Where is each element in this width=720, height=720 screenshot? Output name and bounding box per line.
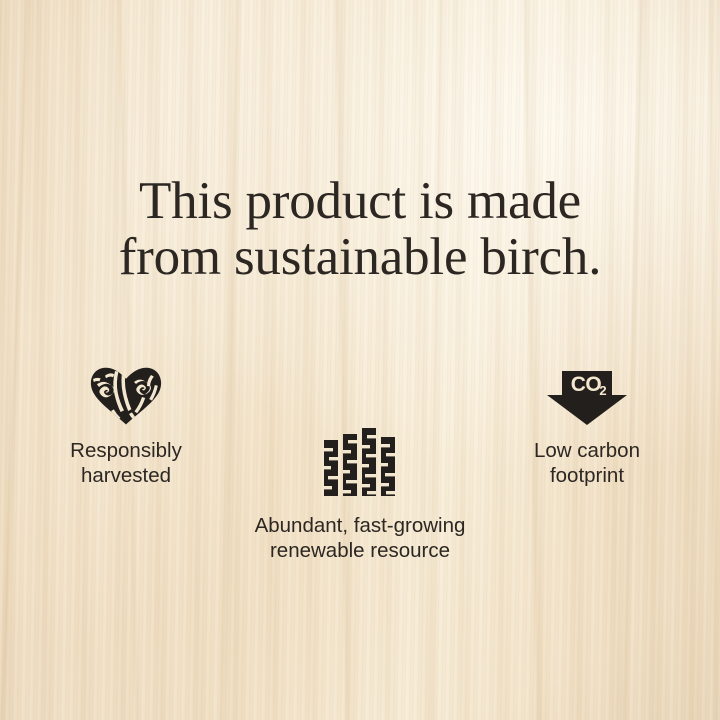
feature-low-carbon-footprint: CO 2 Low carbon footprint [487,363,687,488]
wood-panel: This product is made from sustainable bi… [0,0,720,720]
feature-columns: Responsibly harvested [0,355,720,585]
headline: This product is made from sustainable bi… [0,173,720,285]
feature-responsibly-harvested: Responsibly harvested [26,363,226,488]
co2-icon-label: CO [571,373,602,396]
feature-renewable-resource: Abundant, fast-growing renewable resourc… [240,420,480,563]
feature-caption: Responsibly harvested [26,438,226,488]
icon-slot: CO 2 [487,363,687,425]
wood-grain-heart-icon [89,367,163,425]
co2-down-arrow-icon: CO 2 [547,371,627,425]
icon-slot [26,363,226,425]
panel-content: This product is made from sustainable bi… [0,0,720,720]
birch-trunks-icon [322,426,398,498]
co2-icon-subscript: 2 [599,383,606,398]
feature-caption: Low carbon footprint [487,438,687,488]
feature-caption: Abundant, fast-growing renewable resourc… [240,513,480,563]
icon-slot [240,420,480,498]
